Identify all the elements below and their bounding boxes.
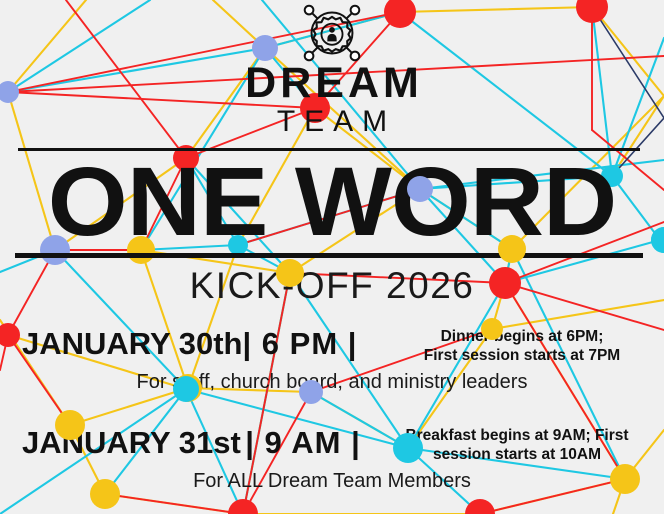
schedule-row-2-note-line-1: Breakfast begins at 9AM; First <box>376 426 658 445</box>
gear-person-network-icon <box>301 2 363 64</box>
event-poster: DREAM TEAM ONE WORD KICK-OFF 2026 JANUAR… <box>0 0 664 514</box>
brand-logo: DREAM TEAM <box>0 2 664 140</box>
schedule-row-1-note-line-1: Dinner begins at 6PM; <box>386 327 658 346</box>
headline-rule-bottom <box>15 253 643 258</box>
schedule-row-1-note: Dinner begins at 6PM; First session star… <box>386 327 658 365</box>
brand-name-secondary: TEAM <box>0 104 664 140</box>
schedule-row-2-audience: For ALL Dream Team Members <box>0 470 664 493</box>
schedule-row-1-date-text: JANUARY 30th <box>22 326 243 361</box>
schedule-row-1-time-text: | 6 PM | <box>243 326 358 361</box>
schedule-row-1-date: JANUARY 30th| 6 PM | <box>22 326 357 362</box>
schedule-row-2-time-text: | 9 AM | <box>245 425 361 460</box>
schedule-row-2-note: Breakfast begins at 9AM; First session s… <box>376 426 658 464</box>
schedule-row-1-audience: For staff, church board, and ministry le… <box>0 371 664 394</box>
page-subtitle: KICK-OFF 2026 <box>0 265 664 307</box>
brand-name-primary: DREAM <box>0 62 664 104</box>
schedule-row-2-note-line-2: session starts at 10AM <box>376 445 658 464</box>
schedule-row-1-note-line-2: First session starts at 7PM <box>386 346 658 365</box>
schedule-row-2-date-text: JANUARY 31st <box>22 425 241 460</box>
page-title: ONE WORD <box>0 152 664 252</box>
schedule-row-2-date: JANUARY 31st | 9 AM | <box>22 425 361 461</box>
